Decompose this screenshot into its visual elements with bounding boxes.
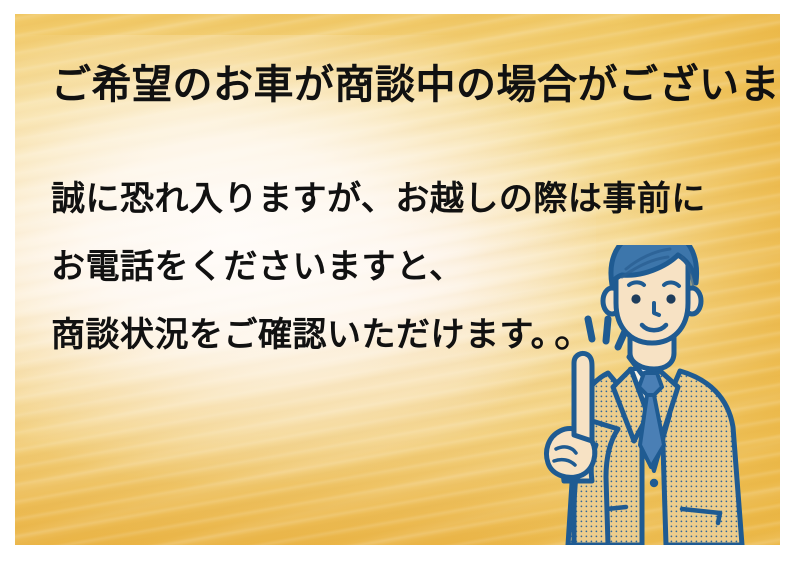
businessman-illustration (530, 245, 780, 545)
sparkle-dot-icon (557, 338, 568, 349)
right-eye (666, 294, 675, 303)
necktie (639, 373, 664, 467)
page-title: ご希望のお車が商談中の場合がございます (51, 62, 751, 108)
announcement-banner: ご希望のお車が商談中の場合がございます 誠に恐れ入りますが、お越しの際は事前に … (0, 0, 800, 565)
body-line-1: 誠に恐れ入りますが、お越しの際は事前に (51, 182, 751, 216)
left-eye (631, 294, 640, 303)
head (603, 245, 701, 343)
gold-panel: ご希望のお車が商談中の場合がございます 誠に恐れ入りますが、お越しの際は事前に … (15, 14, 780, 545)
jacket-button (650, 479, 658, 487)
